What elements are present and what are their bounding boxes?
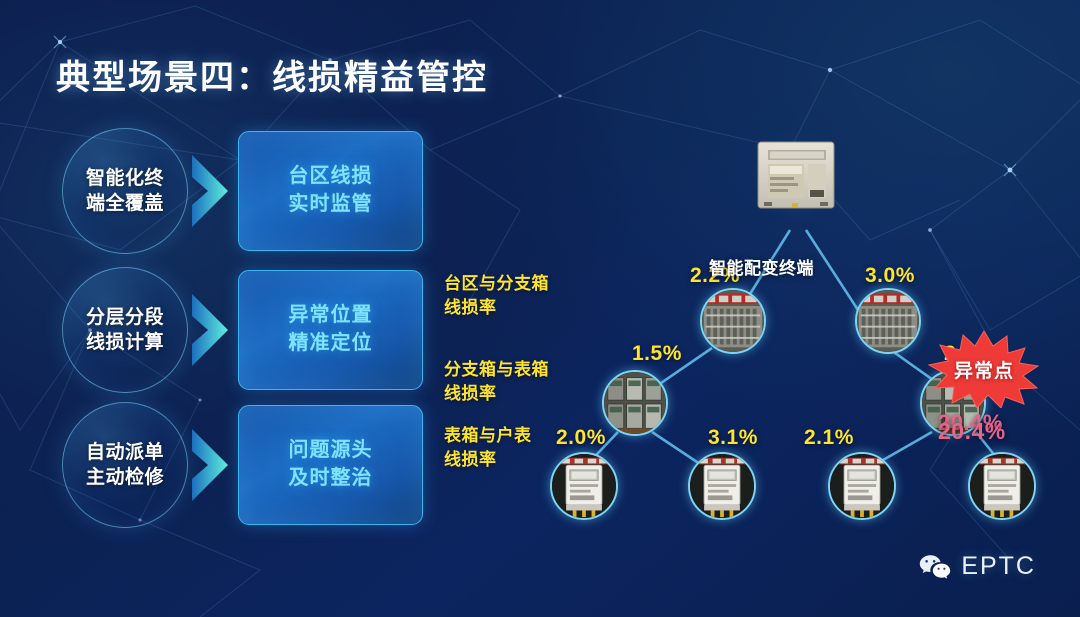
pct-branch-right: 3.0% [865,264,915,288]
flow-row-1: 智能化终 端全覆盖 台区线损 实时监管 [62,131,422,251]
distribution-terminal-icon [740,120,852,232]
alarm-value: 20.4% [938,418,1006,445]
flow-panel-3-label: 问题源头 及时整治 [289,437,373,492]
pct-meter-3: 2.1% [804,426,854,450]
flow-arrow-1-icon [190,153,230,229]
tree-node-meter-box-left[interactable] [602,370,668,436]
flow-circle-2[interactable]: 分层分段 线损计算 [62,267,188,393]
metric-caption-1: 台区与分支箱 线损率 [444,272,549,320]
terminal-caption: 智能配变终端 [709,254,814,279]
flow-panel-2-label: 异常位置 精准定位 [289,302,373,357]
pct-meter-2: 3.1% [708,426,758,450]
flow-circle-3-label: 自动派单 主动检修 [86,440,164,491]
flow-row-3: 自动派单 主动检修 问题源头 及时整治 [62,405,422,525]
flow-panel-1-label: 台区线损 实时监管 [289,163,373,218]
flow-panel-3[interactable]: 问题源头 及时整治 [238,405,423,525]
footer-brand: EPTC [918,552,1036,581]
pct-meter-1: 2.0% [556,426,606,450]
flow-panel-1[interactable]: 台区线损 实时监管 [238,131,423,251]
tree-node-meter-4[interactable] [968,452,1036,520]
electric-meter-icon [690,454,754,518]
tree-node-meter-1[interactable] [550,452,618,520]
pct-box-left: 1.5% [632,342,682,366]
metric-caption-2: 分支箱与表箱 线损率 [444,358,549,406]
flow-arrow-2-icon [190,292,230,368]
flow-arrow-3-icon [190,427,230,503]
flow-circle-1[interactable]: 智能化终 端全覆盖 [62,128,188,254]
electric-meter-icon [970,454,1034,518]
flow-panel-2[interactable]: 异常位置 精准定位 [238,270,423,390]
page-title: 典型场景四：线损精益管控 [56,50,488,99]
slide-canvas: 典型场景四：线损精益管控 智能化终 端全覆盖 台区线损 实时监管 [0,0,1080,617]
alarm-badge-label: 异常点 [925,330,1043,408]
flow-circle-3[interactable]: 自动派单 主动检修 [62,402,188,528]
tree-node-meter-2[interactable] [688,452,756,520]
meter-cabinet-icon [604,372,666,434]
electric-meter-icon [830,454,894,518]
branch-box-icon [857,290,919,352]
wechat-icon [918,553,952,581]
tree-node-meter-3[interactable] [828,452,896,520]
flow-row-2: 分层分段 线损计算 异常位置 精准定位 [62,270,422,390]
tree-node-branch-box-left[interactable] [700,288,766,354]
flow-circle-1-label: 智能化终 端全覆盖 [86,166,164,217]
tree-node-terminal[interactable] [740,120,852,232]
metric-caption-3: 表箱与户表 线损率 [444,424,532,472]
electric-meter-icon [552,454,616,518]
branch-box-icon [702,290,764,352]
tree-node-branch-box-right[interactable] [855,288,921,354]
flow-circle-2-label: 分层分段 线损计算 [86,305,164,356]
brand-label: EPTC [961,552,1036,581]
